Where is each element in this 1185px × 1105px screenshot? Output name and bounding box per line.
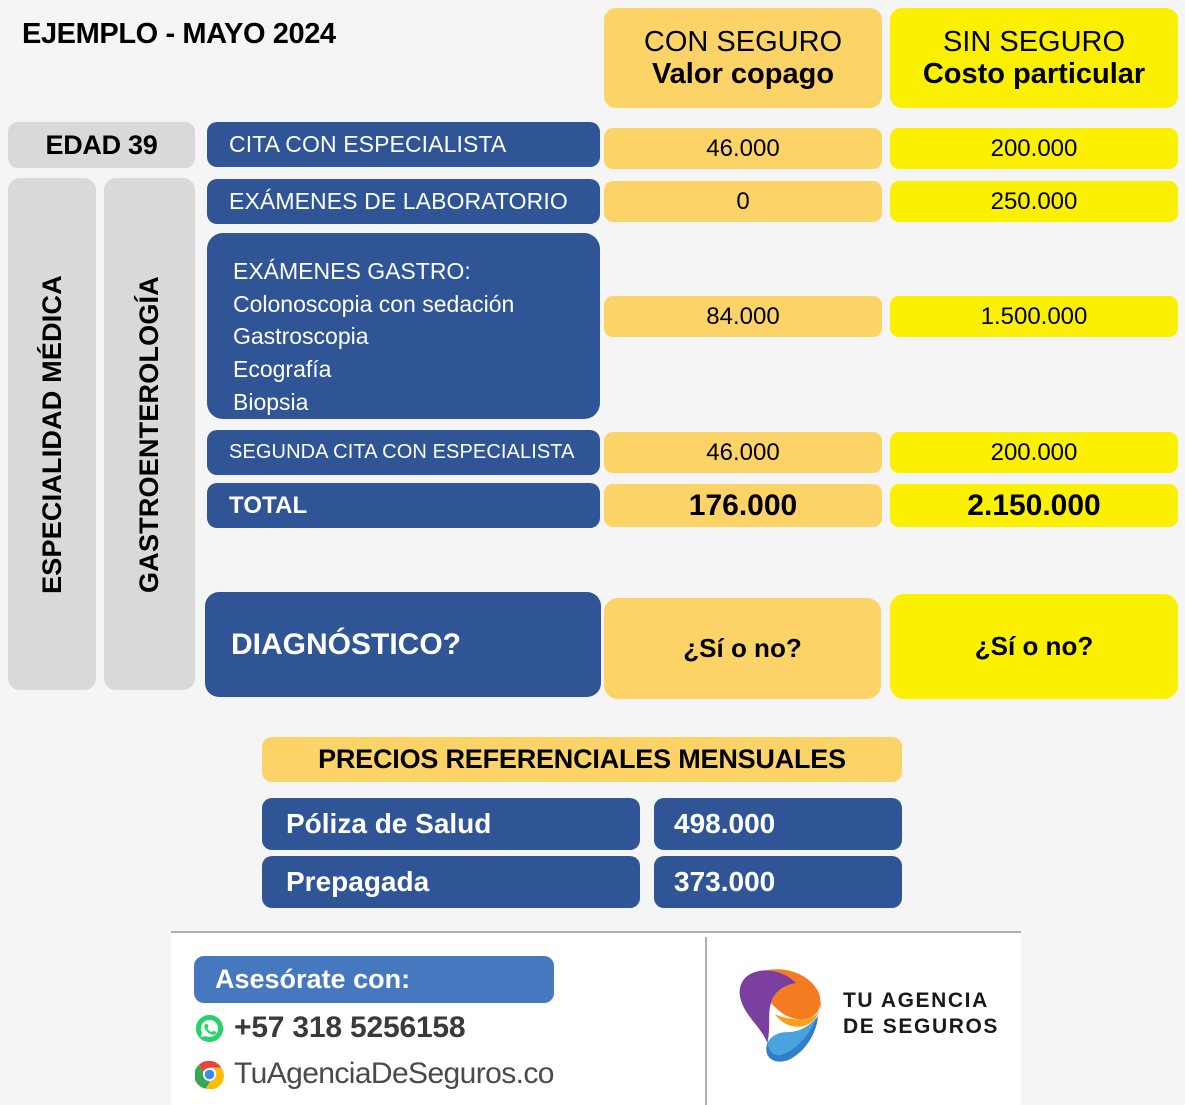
- row-value-gastro-sin-seguro: 1.500.000: [890, 296, 1178, 337]
- price-value-prepagada: 373.000: [654, 856, 902, 908]
- diagnostic-value-con-seguro: ¿Sí o no?: [604, 598, 881, 699]
- contact-website-row[interactable]: TuAgenciaDeSeguros.co: [195, 1057, 554, 1091]
- gastro-item-ecografia: Ecografía: [233, 353, 331, 386]
- row-value-cita-con-seguro: 46.000: [604, 128, 882, 169]
- row-label-total: TOTAL: [207, 483, 600, 528]
- brand-line-2: DE SEGUROS: [843, 1014, 999, 1040]
- row-value-segunda-cita-con-seguro: 46.000: [604, 432, 882, 473]
- sidebar-specialty-value: GASTROENTEROLOGÍA: [104, 178, 195, 690]
- row-label-examenes-gastro: EXÁMENES GASTRO: Colonoscopia con sedaci…: [207, 233, 600, 419]
- row-value-laboratorio-sin-seguro: 250.000: [890, 181, 1178, 222]
- gastro-heading: EXÁMENES GASTRO:: [233, 255, 471, 288]
- brand-logo-text: TU AGENCIA DE SEGUROS: [843, 988, 999, 1039]
- price-name-poliza-de-salud: Póliza de Salud: [262, 798, 640, 850]
- infographic-canvas: EJEMPLO - MAYO 2024 CON SEGURO Valor cop…: [0, 0, 1185, 1105]
- column-header-con-seguro-line1: CON SEGURO: [644, 26, 842, 58]
- footer-divider: [705, 937, 707, 1105]
- footer-card: Asesórate con: +57 318 5256158 TuAgencia…: [171, 931, 1021, 1105]
- sidebar-specialty-header: ESPECIALIDAD MÉDICA: [8, 178, 96, 690]
- row-value-gastro-con-seguro: 84.000: [604, 296, 882, 337]
- column-header-sin-seguro-line2: Costo particular: [923, 58, 1145, 90]
- row-label-segunda-cita-con-especialista: SEGUNDA CITA CON ESPECIALISTA: [207, 430, 600, 475]
- price-name-prepagada: Prepagada: [262, 856, 640, 908]
- monthly-prices-header: PRECIOS REFERENCIALES MENSUALES: [262, 737, 902, 782]
- gastro-item-colonoscopia: Colonoscopia con sedación: [233, 288, 514, 321]
- diagnostic-label: DIAGNÓSTICO?: [205, 592, 601, 697]
- row-value-segunda-cita-sin-seguro: 200.000: [890, 432, 1178, 473]
- age-badge: EDAD 39: [8, 122, 195, 168]
- contact-phone-row[interactable]: +57 318 5256158: [195, 1011, 465, 1045]
- row-label-examenes-de-laboratorio: EXÁMENES DE LABORATORIO: [207, 179, 600, 224]
- contact-website-text: TuAgenciaDeSeguros.co: [234, 1057, 554, 1091]
- row-value-cita-sin-seguro: 200.000: [890, 128, 1178, 169]
- row-value-laboratorio-con-seguro: 0: [604, 181, 882, 222]
- column-header-con-seguro-line2: Valor copago: [652, 58, 834, 90]
- row-value-total-con-seguro: 176.000: [604, 484, 882, 527]
- contact-phone-text: +57 318 5256158: [234, 1011, 465, 1045]
- brand-logo-mark: [731, 963, 831, 1065]
- column-header-sin-seguro: SIN SEGURO Costo particular: [890, 8, 1178, 108]
- advisor-cta-banner: Asesórate con:: [194, 956, 554, 1003]
- diagnostic-value-sin-seguro: ¿Sí o no?: [890, 594, 1178, 699]
- gastro-item-gastroscopia: Gastroscopia: [233, 320, 369, 353]
- chrome-icon: [195, 1060, 224, 1089]
- sidebar-specialty-header-label: ESPECIALIDAD MÉDICA: [37, 275, 68, 594]
- brand-logo: TU AGENCIA DE SEGUROS: [731, 963, 999, 1065]
- row-label-cita-con-especialista: CITA CON ESPECIALISTA: [207, 122, 600, 167]
- column-header-con-seguro: CON SEGURO Valor copago: [604, 8, 882, 108]
- gastro-item-biopsia: Biopsia: [233, 386, 308, 419]
- column-header-sin-seguro-line1: SIN SEGURO: [943, 26, 1125, 58]
- whatsapp-icon: [195, 1014, 224, 1043]
- row-value-total-sin-seguro: 2.150.000: [890, 484, 1178, 527]
- page-title: EJEMPLO - MAYO 2024: [22, 18, 336, 51]
- price-value-poliza-de-salud: 498.000: [654, 798, 902, 850]
- brand-line-1: TU AGENCIA: [843, 988, 999, 1014]
- sidebar-specialty-value-label: GASTROENTEROLOGÍA: [134, 276, 165, 593]
